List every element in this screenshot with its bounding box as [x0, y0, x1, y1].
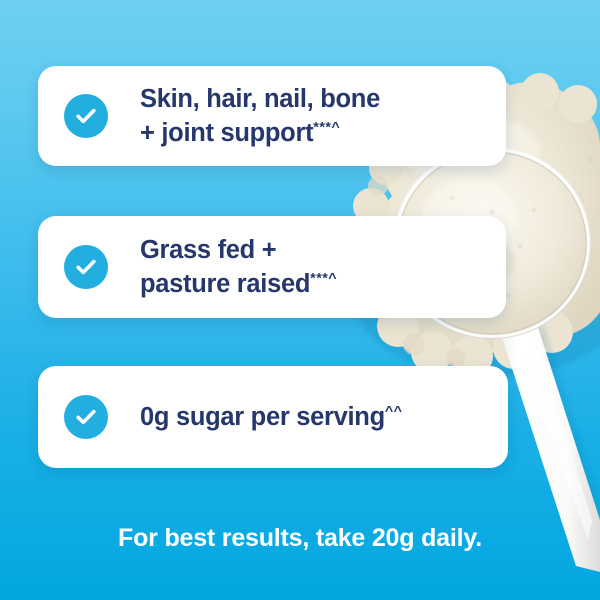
benefit-1-superscript: ***^ [313, 120, 340, 136]
check-circle-icon [64, 245, 108, 289]
benefit-3-superscript: ^^ [385, 403, 403, 419]
benefit-card-2-text: Grass fed + pasture raised***^ [140, 233, 496, 301]
check-circle-icon [64, 94, 108, 138]
benefit-2-line-2: pasture raised***^ [140, 267, 496, 301]
benefit-card-1: Skin, hair, nail, bone + joint support**… [38, 66, 506, 166]
benefit-card-2: Grass fed + pasture raised***^ [38, 216, 506, 318]
benefit-1-line-1: Skin, hair, nail, bone [140, 82, 496, 116]
benefit-2-line-2-text: pasture raised [140, 270, 310, 298]
benefit-card-1-text: Skin, hair, nail, bone + joint support**… [140, 82, 496, 150]
benefit-2-superscript: ***^ [310, 271, 337, 287]
benefit-3-line-1: 0g sugar per serving^^ [140, 400, 498, 434]
check-circle-icon [64, 395, 108, 439]
benefit-1-line-2: + joint support***^ [140, 116, 496, 150]
promo-graphic: Skin, hair, nail, bone + joint support**… [0, 0, 600, 600]
benefit-2-line-1: Grass fed + [140, 233, 496, 267]
footer-usage-instruction: For best results, take 20g daily. [0, 524, 600, 553]
benefit-card-3: 0g sugar per serving^^ [38, 366, 508, 468]
benefit-card-3-text: 0g sugar per serving^^ [140, 400, 498, 434]
benefit-1-line-2-text: + joint support [140, 119, 313, 147]
benefit-3-line-1-text: 0g sugar per serving [140, 403, 385, 431]
